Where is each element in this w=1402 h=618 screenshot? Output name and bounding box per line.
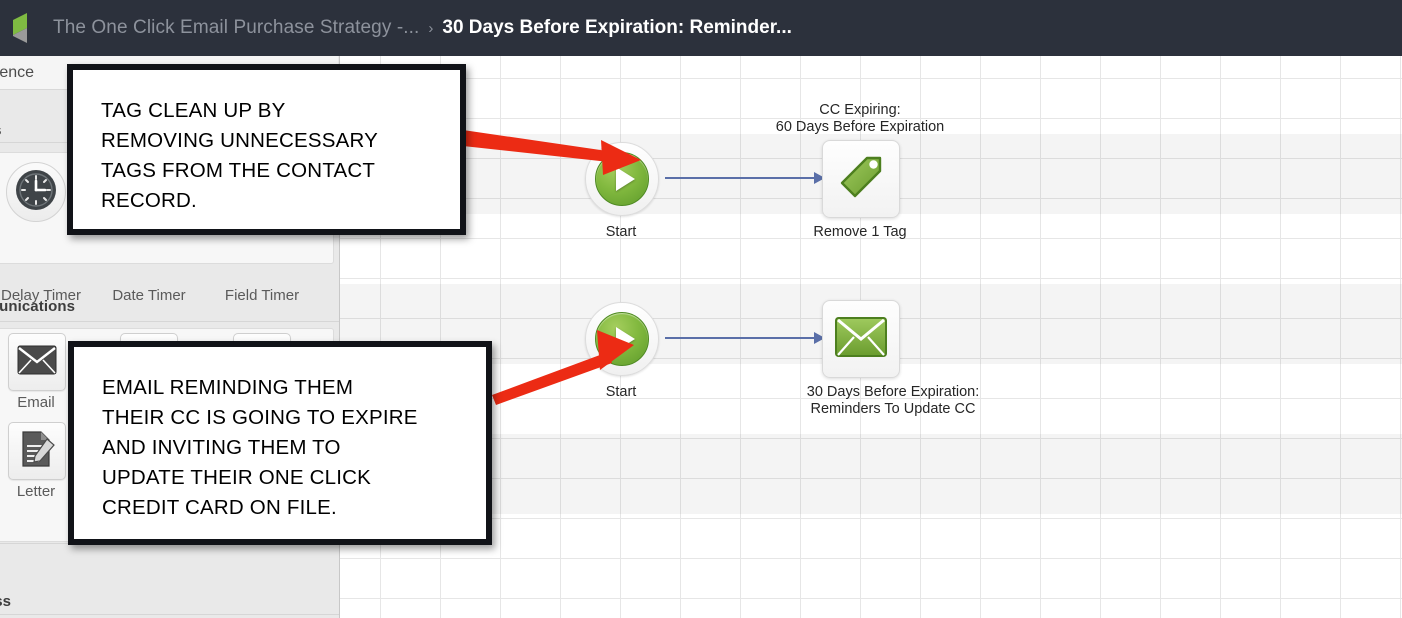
section-header-timers: Timers <box>0 122 2 139</box>
campaign-canvas[interactable]: CC Expiring: 60 Days Before Expiration S… <box>340 56 1402 618</box>
envelope-icon <box>17 345 57 380</box>
email-node-label: 30 Days Before Expiration: Reminders To … <box>748 384 1038 418</box>
tool-label-field-timer: Field Timer <box>207 287 317 304</box>
app-header: The One Click Email Purchase Strategy -.… <box>0 0 1402 56</box>
delay-timer-button[interactable] <box>6 162 66 222</box>
tool-label-email: Email <box>0 394 72 411</box>
tag-icon <box>836 152 886 207</box>
letter-tool-button[interactable] <box>8 422 66 480</box>
email-reminder-callout: EMAIL REMINDING THEM THEIR CC IS GOING T… <box>68 341 492 545</box>
breadcrumb-separator-icon: › <box>428 20 433 37</box>
tag-cleanup-callout: TAG CLEAN UP BY REMOVING UNNECESSARY TAG… <box>67 64 466 235</box>
tool-label-date-timer: Date Timer <box>94 287 204 304</box>
breadcrumb-current: 30 Days Before Expiration: Reminder... <box>442 17 792 39</box>
letter-icon <box>17 430 57 473</box>
remove-tag-node[interactable] <box>822 140 900 218</box>
section-divider <box>0 321 339 322</box>
tab-sequence[interactable]: Sequence <box>0 56 50 89</box>
section-header-process: Process <box>0 593 11 610</box>
start-node[interactable] <box>585 302 659 376</box>
tag-cleanup-callout-text: TAG CLEAN UP BY REMOVING UNNECESSARY TAG… <box>101 96 438 216</box>
node-title-cc-expiring: CC Expiring: 60 Days Before Expiration <box>740 102 980 136</box>
play-icon <box>595 312 649 366</box>
start-node-label: Start <box>565 384 677 401</box>
section-header-communications: Communications <box>0 298 75 315</box>
tool-label-letter: Letter <box>0 483 72 500</box>
email-reminder-callout-text: EMAIL REMINDING THEM THEIR CC IS GOING T… <box>102 373 468 523</box>
start-node-label: Start <box>565 224 677 241</box>
keap-logo-icon[interactable] <box>13 13 39 43</box>
connector-arrow[interactable] <box>665 170 825 186</box>
play-icon <box>595 152 649 206</box>
remove-tag-node-label: Remove 1 Tag <box>790 224 930 241</box>
clock-icon <box>14 168 58 217</box>
section-divider <box>0 614 339 615</box>
start-node[interactable] <box>585 142 659 216</box>
breadcrumb-parent[interactable]: The One Click Email Purchase Strategy -.… <box>53 17 419 39</box>
email-tool-button[interactable] <box>8 333 66 391</box>
connector-arrow[interactable] <box>665 330 825 346</box>
email-node[interactable] <box>822 300 900 378</box>
canvas-lane-band <box>340 434 1402 514</box>
envelope-icon <box>835 317 887 362</box>
